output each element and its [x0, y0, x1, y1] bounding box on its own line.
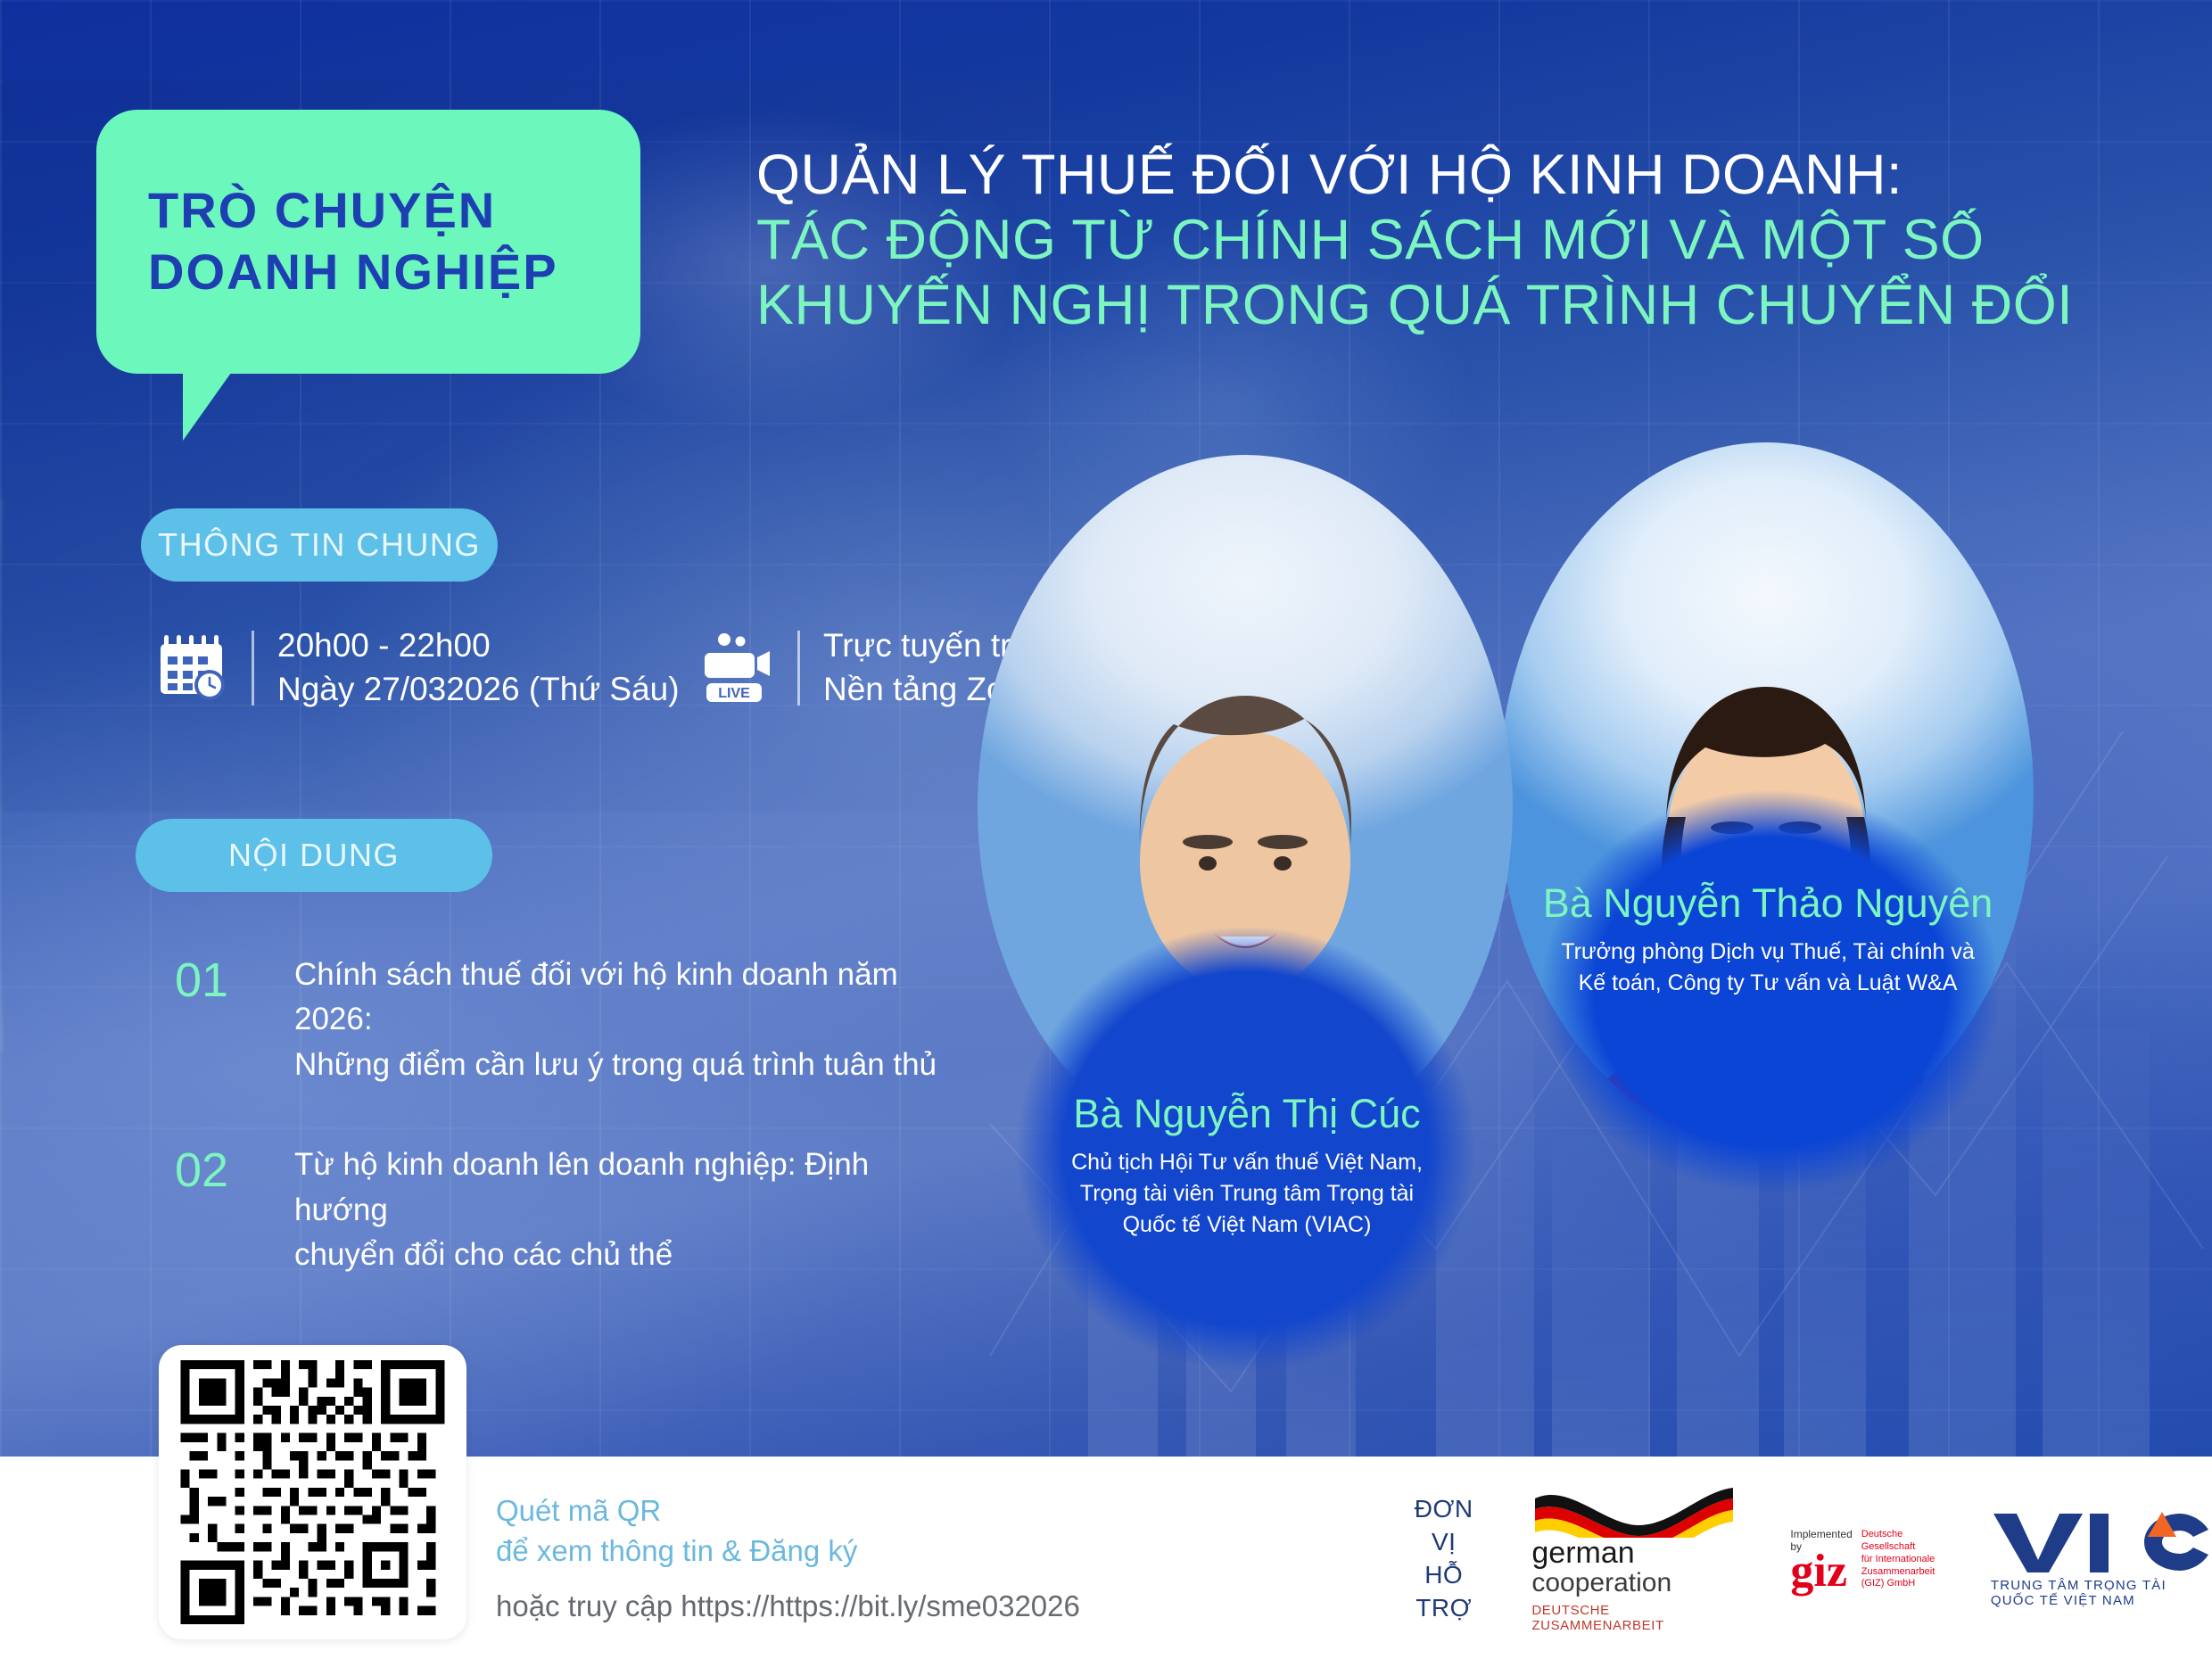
poster-root: TRÒ CHUYỆN DOANH NGHIỆP QUẢN LÝ THUẾ ĐỐI…	[0, 0, 2212, 1659]
agenda-text-line-1: Chính sách thuế đối với hộ kinh doanh nă…	[294, 953, 960, 1043]
giz-subtitle-line-3: Zusammenarbeit (GIZ) GmbH	[1861, 1566, 1937, 1591]
calendar-clock-icon	[159, 631, 228, 705]
giz-subtitle-line-1: Deutsche Gesellschaft	[1861, 1529, 1937, 1554]
badge-line-1: TRÒ CHUYỆN	[148, 180, 640, 242]
agenda-item: 02 Từ hộ kinh doanh lên doanh nghiệp: Đị…	[175, 1143, 960, 1277]
support-label-line-1: ĐƠN VỊ	[1409, 1493, 1478, 1559]
german-word-2: cooperation	[1531, 1568, 1671, 1599]
section-pill-general-info: THÔNG TIN CHUNG	[141, 508, 498, 582]
giz-logo: Implemented by giz Deutsche Gesellschaft…	[1790, 1528, 1936, 1590]
live-badge-label: LIVE	[718, 686, 750, 701]
qr-instructions: Quét mã QR để xem thông tin & Đăng ký ho…	[496, 1491, 1080, 1623]
speaker-1-caption: Bà Nguyễn Thị Cúc Chủ tịch Hội Tư vấn th…	[944, 1090, 1550, 1241]
speaker-1-role-line-1: Chủ tịch Hội Tư vấn thuế Việt Nam,	[944, 1147, 1550, 1178]
giz-wordmark: giz	[1790, 1553, 1852, 1590]
qr-code-image[interactable]	[174, 1360, 451, 1624]
sponsor-logos: ĐƠN VỊ HỖ TRỢ german cooperation DEUTSCH…	[1409, 1486, 2212, 1633]
viac-wordmark-icon	[1992, 1510, 2210, 1574]
german-word-1: german	[1531, 1538, 1634, 1568]
speaker-2-role-line-1: Trưởng phòng Dịch vụ Thuế, Tài chính và	[1491, 937, 2044, 968]
badge-line-2: DOANH NGHIỆP	[148, 242, 640, 303]
speaker-1-role-line-2: Trọng tài viên Trung tâm Trọng tài	[944, 1178, 1550, 1209]
info-divider	[252, 631, 254, 706]
event-time: 20h00 - 22h00	[277, 624, 680, 668]
giz-subtitle-line-2: für Internationale	[1861, 1554, 1937, 1566]
german-cooperation-logo: german cooperation DEUTSCHE ZUSAMMENARBE…	[1531, 1486, 1737, 1633]
title-line-2: TÁC ĐỘNG TỪ CHÍNH SÁCH MỚI VÀ MỘT SỐ	[756, 208, 2148, 273]
agenda-item: 01 Chính sách thuế đối với hộ kinh doanh…	[175, 953, 960, 1087]
title-line-3: KHUYẾN NGHỊ TRONG QUÁ TRÌNH CHUYỂN ĐỔI	[756, 273, 2148, 338]
agenda-text: Từ hộ kinh doanh lên doanh nghiệp: Định …	[294, 1143, 960, 1277]
info-datetime-text: 20h00 - 22h00 Ngày 27/032026 (Thứ Sáu)	[277, 624, 680, 712]
speaker-1-role-line-3: Quốc tế Việt Nam (VIAC)	[944, 1209, 1550, 1241]
event-date: Ngày 27/032026 (Thứ Sáu)	[277, 668, 680, 712]
qr-line-3[interactable]: hoặc truy cập https://https://bit.ly/sme…	[496, 1589, 1080, 1623]
agenda-number: 01	[175, 953, 257, 1087]
qr-line-1: Quét mã QR	[496, 1491, 1080, 1531]
agenda-text-line-1: Từ hộ kinh doanh lên doanh nghiệp: Định …	[294, 1143, 960, 1233]
agenda-list: 01 Chính sách thuế đối với hộ kinh doanh…	[175, 953, 960, 1333]
title-line-1: QUẢN LÝ THUẾ ĐỐI VỚI HỘ KINH DOANH:	[756, 143, 2148, 208]
badge-bubble: TRÒ CHUYỆN DOANH NGHIỆP	[96, 110, 640, 374]
qr-code-card[interactable]	[159, 1345, 466, 1639]
speaker-2-backdrop	[1481, 767, 2060, 1267]
section-pill-content: NỘI DUNG	[136, 819, 492, 892]
info-row-datetime: 20h00 - 22h00 Ngày 27/032026 (Thứ Sáu)	[159, 624, 680, 712]
page-title: QUẢN LÝ THUẾ ĐỐI VỚI HỘ KINH DOANH: TÁC …	[756, 143, 2148, 338]
support-label-line-2: HỖ TRỢ	[1409, 1559, 1478, 1625]
viac-subtitle: TRUNG TÂM TRỌNG TÀI QUỐC TẾ VIỆT NAM	[1991, 1578, 2212, 1608]
support-label: ĐƠN VỊ HỖ TRỢ	[1409, 1493, 1478, 1625]
qr-line-2: để xem thông tin & Đăng ký	[496, 1531, 1080, 1572]
agenda-text-line-2: Những điểm cần lưu ý trong quá trình tuâ…	[294, 1043, 960, 1087]
agenda-text-line-2: chuyển đổi cho các chủ thể	[294, 1233, 960, 1277]
speaker-1-name: Bà Nguyễn Thị Cúc	[944, 1090, 1550, 1138]
badge-bubble-tail	[183, 373, 231, 441]
agenda-text: Chính sách thuế đối với hộ kinh doanh nă…	[294, 953, 960, 1087]
live-video-icon: LIVE	[705, 631, 774, 705]
info-divider-2	[797, 631, 800, 706]
hero-background: TRÒ CHUYỆN DOANH NGHIỆP QUẢN LÝ THUẾ ĐỐI…	[0, 0, 2212, 1457]
agenda-number: 02	[175, 1143, 257, 1277]
speaker-2-caption: Bà Nguyễn Thảo Nguyên Trưởng phòng Dịch …	[1491, 879, 2044, 999]
viac-logo: TRUNG TÂM TRỌNG TÀI QUỐC TẾ VIỆT NAM	[1991, 1510, 2212, 1608]
speaker-2-role-line-2: Kế toán, Công ty Tư vấn và Luật W&A	[1491, 968, 2044, 999]
german-flag-ribbon-icon	[1531, 1486, 1737, 1538]
german-subtitle: DEUTSCHE ZUSAMMENARBEIT	[1531, 1603, 1737, 1633]
speaker-2-name: Bà Nguyễn Thảo Nguyên	[1491, 879, 2044, 928]
giz-subtitle: Deutsche Gesellschaft für Internationale…	[1861, 1529, 1937, 1590]
